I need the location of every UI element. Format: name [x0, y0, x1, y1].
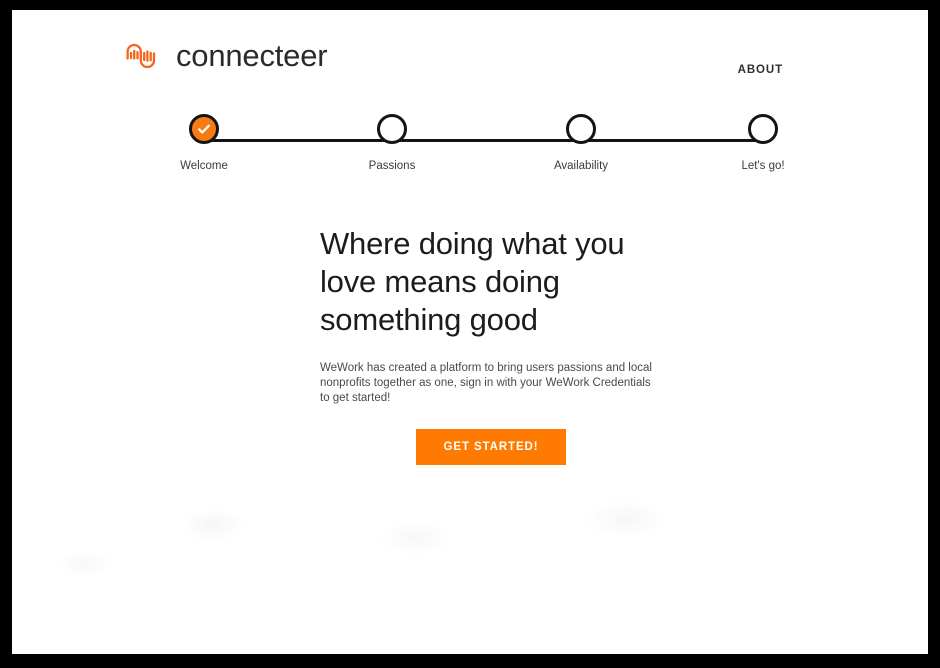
get-started-button[interactable]: GET STARTED! [416, 429, 566, 465]
stepper-label-availability: Availability [554, 160, 608, 172]
page-title: Where doing what you love means doing so… [320, 225, 680, 339]
site-header: connecteer ABOUT [12, 10, 928, 102]
hero-copy: Where doing what you love means doing so… [320, 225, 680, 406]
stepper-dot-availability[interactable] [566, 114, 596, 144]
main-nav: ABOUT [738, 60, 783, 78]
stepper-step-welcome[interactable]: Welcome [164, 114, 244, 172]
stepper-step-letsgo[interactable]: Let's go! [723, 114, 803, 172]
stepper-step-passions[interactable]: Passions [352, 114, 432, 172]
nav-item-about[interactable]: ABOUT [738, 64, 783, 76]
fingerprint-wave-logo-icon [122, 36, 162, 76]
stepper-label-letsgo: Let's go! [741, 160, 784, 172]
check-icon [196, 121, 212, 137]
brand-logo-group[interactable]: connecteer [122, 36, 327, 76]
brand-name: connecteer [176, 38, 327, 74]
stepper-step-availability[interactable]: Availability [541, 114, 621, 172]
stepper-label-passions: Passions [369, 160, 416, 172]
stepper-label-welcome: Welcome [180, 160, 228, 172]
stepper-track [200, 139, 763, 142]
stepper-dot-welcome[interactable] [189, 114, 219, 144]
stepper-dot-letsgo[interactable] [748, 114, 778, 144]
hero-description: WeWork has created a platform to bring u… [320, 361, 660, 406]
outer-frame: connecteer ABOUT Welcome Passions [0, 0, 940, 668]
page-viewport: connecteer ABOUT Welcome Passions [12, 10, 928, 654]
stepper-dot-passions[interactable] [377, 114, 407, 144]
onboarding-stepper: Welcome Passions Availability Let's go! [172, 114, 792, 196]
